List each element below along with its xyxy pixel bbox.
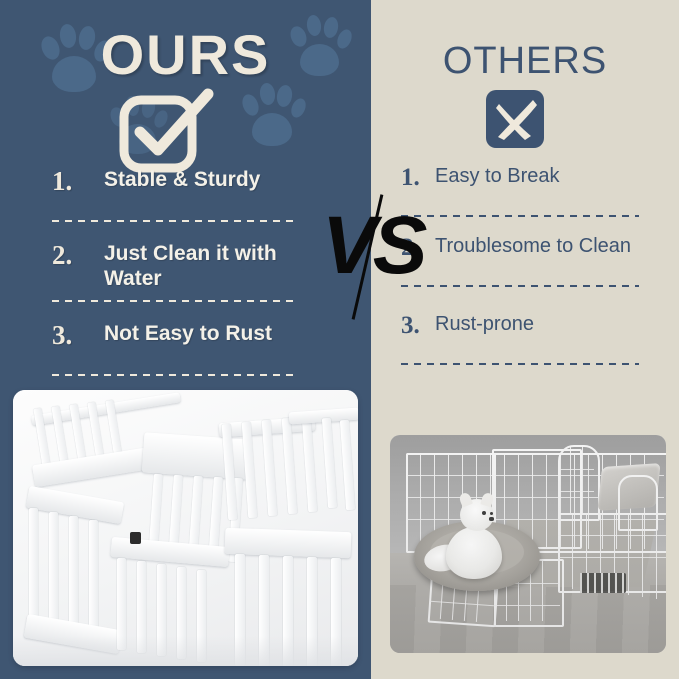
divider [52, 374, 299, 376]
list-item-label: Just Clean it with Water [104, 242, 299, 292]
versus-label: VS [322, 205, 423, 287]
list-item-label: Easy to Break [435, 165, 560, 189]
x-cross-icon [486, 90, 544, 148]
list-item-label: Troublesome to Clean [435, 235, 631, 259]
list-item-number: 3. [52, 322, 104, 349]
ours-product-photo [13, 390, 358, 666]
list-item-label: Stable & Sturdy [104, 168, 260, 193]
list-item: 2. Just Clean it with Water [0, 242, 371, 292]
ours-heading: OURS [0, 22, 371, 87]
divider [401, 363, 639, 365]
list-item: 3. Not Easy to Rust [0, 322, 371, 366]
versus-badge: VS [322, 205, 432, 320]
others-heading: OTHERS [371, 40, 679, 83]
list-item-number: 1. [52, 168, 104, 195]
list-item-number: 2. [52, 242, 104, 269]
others-product-photo [390, 435, 666, 653]
ours-list: 1. Stable & Sturdy 2. Just Clean it with… [0, 168, 371, 376]
list-item-number: 1. [401, 165, 435, 190]
list-item-label: Rust-prone [435, 313, 534, 337]
comparison-infographic: OURS 1. Stable & Sturdy 2. Just Clean it… [0, 0, 679, 679]
paw-print-icon [240, 78, 306, 148]
checkbox-check-icon [118, 86, 214, 176]
ours-panel: OURS 1. Stable & Sturdy 2. Just Clean it… [0, 0, 371, 679]
list-item: 1. Stable & Sturdy [0, 168, 371, 212]
list-item-label: Not Easy to Rust [104, 322, 272, 347]
